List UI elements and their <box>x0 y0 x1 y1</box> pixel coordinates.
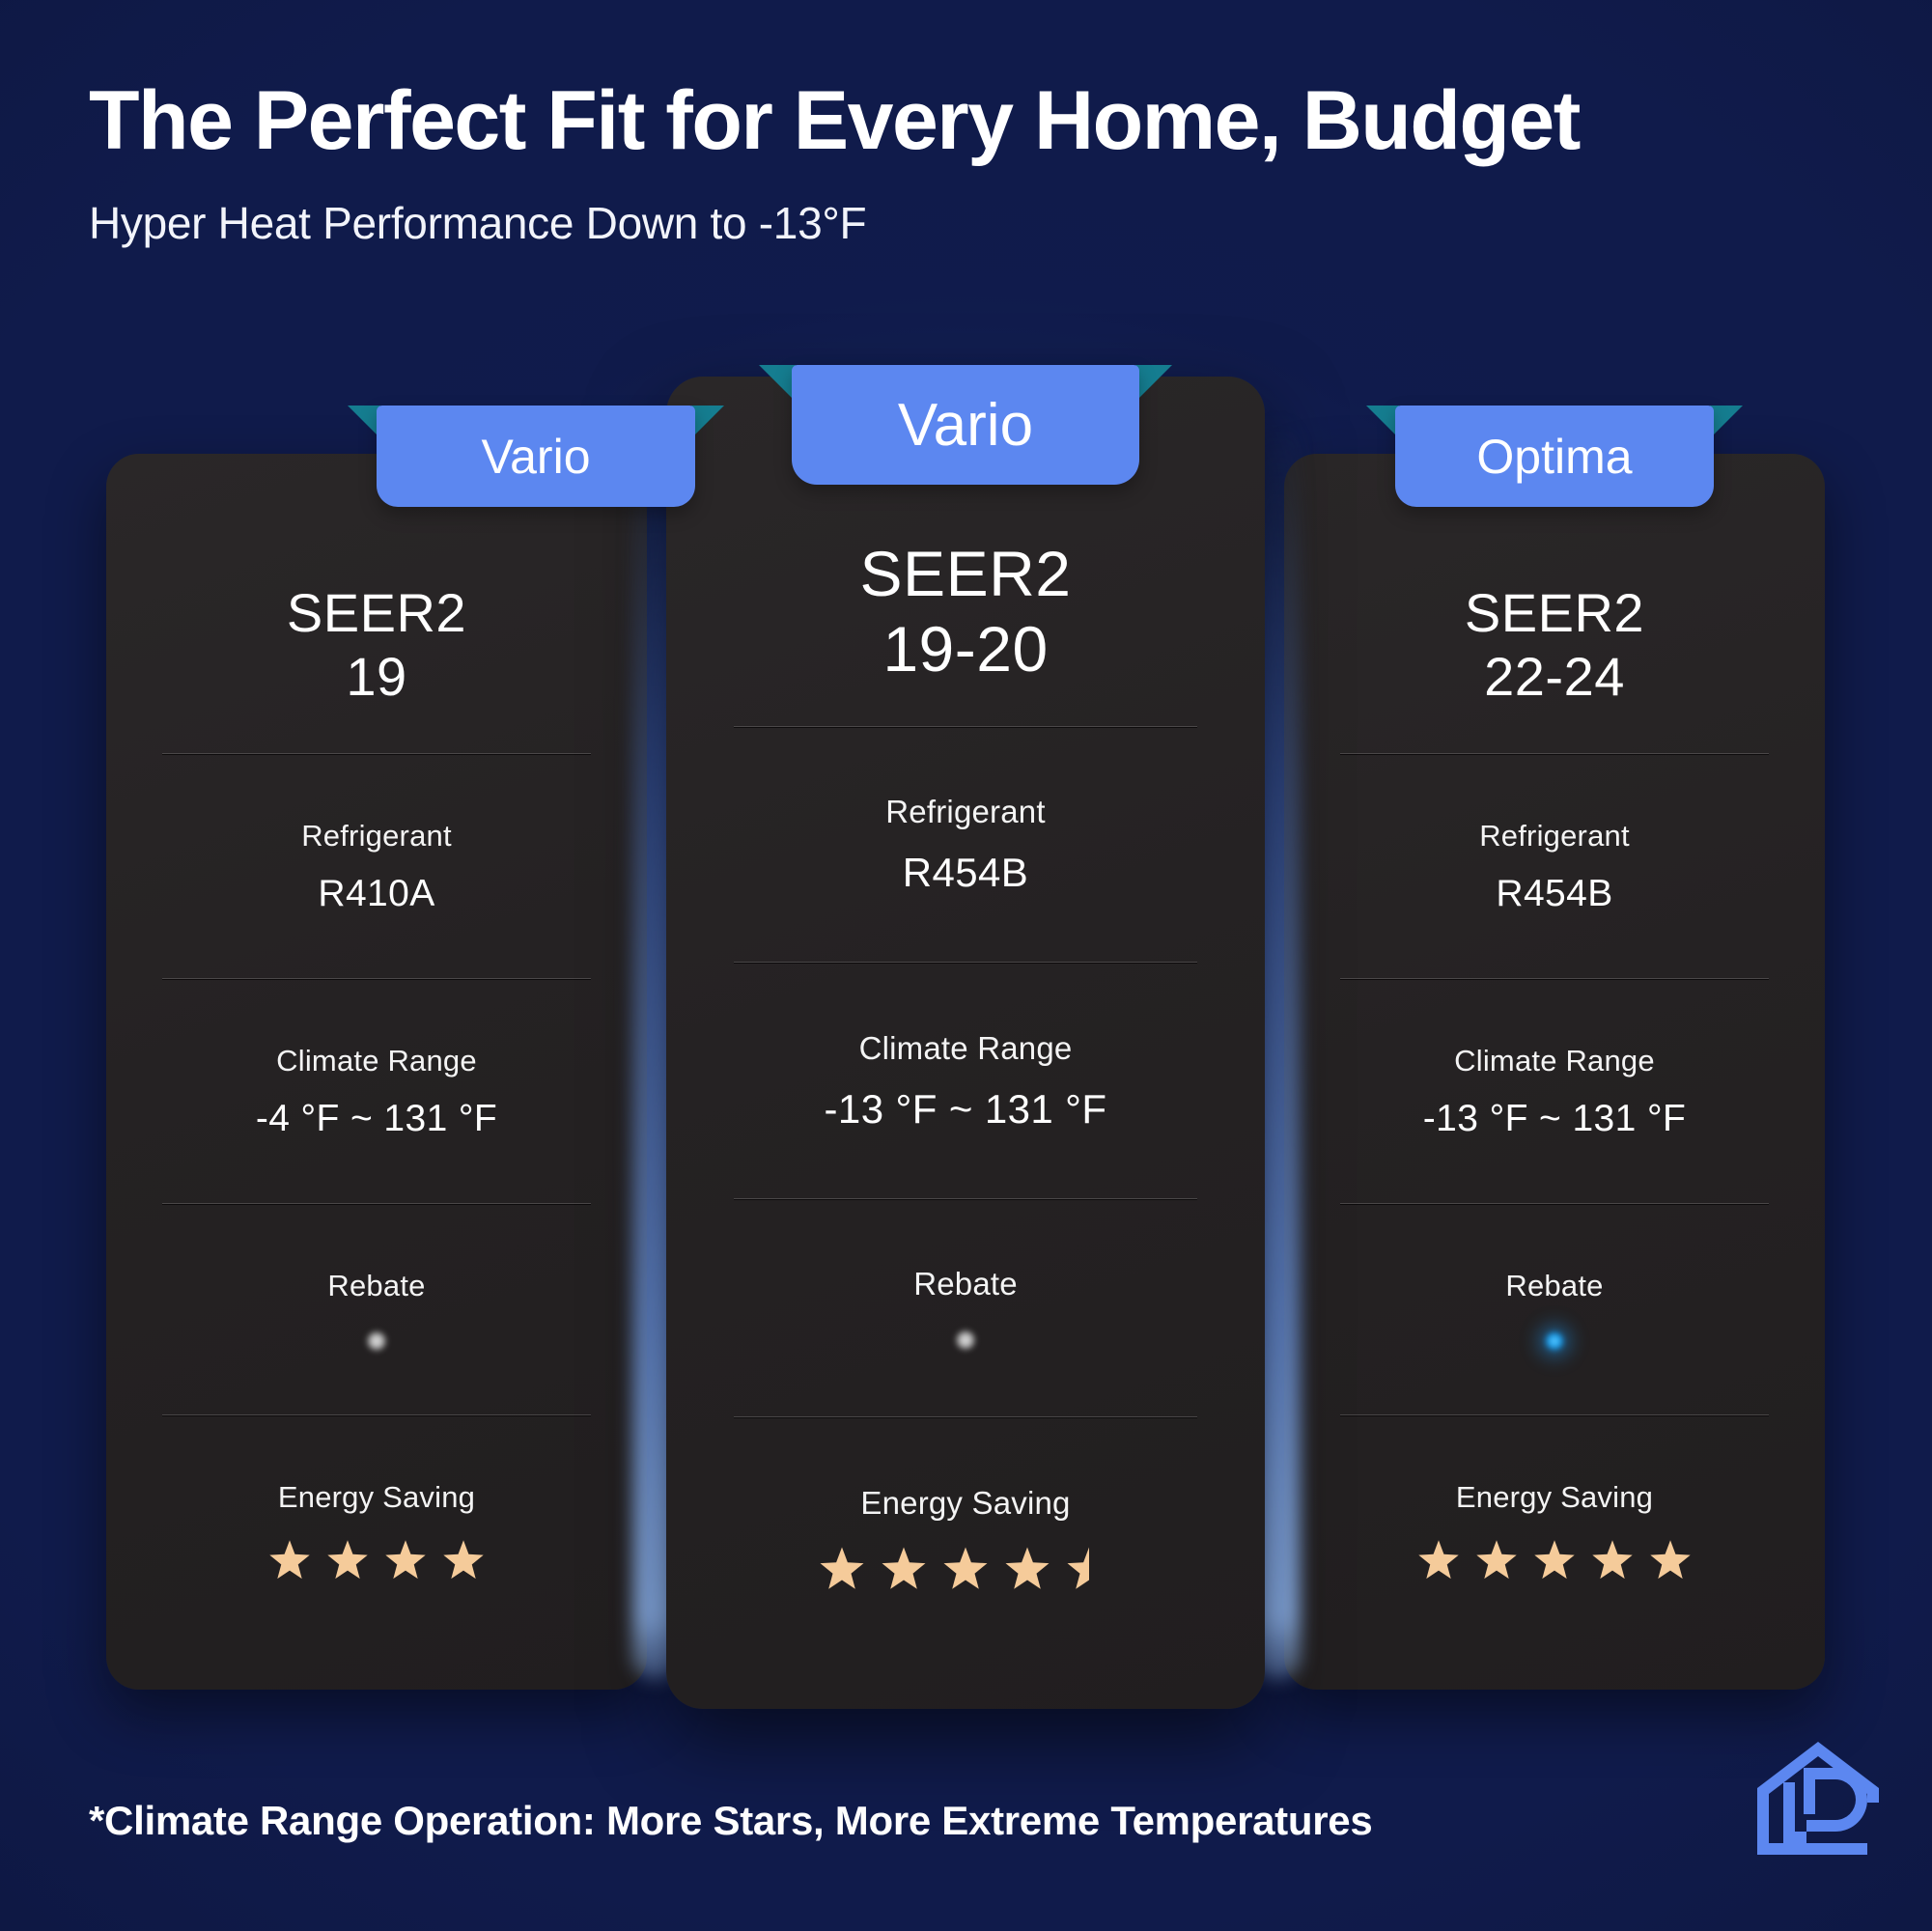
spec-label: Energy Saving <box>860 1485 1070 1522</box>
seer-value: 19 <box>346 645 406 709</box>
spec-row-rebate: Rebate <box>162 1205 591 1414</box>
spec-label: Refrigerant <box>301 819 452 854</box>
spec-value: R454B <box>1496 873 1612 915</box>
spec-row-rebate: Rebate <box>734 1200 1197 1417</box>
ribbon-label: Vario <box>898 391 1033 460</box>
comparison-cards: SEER2 19 Refrigerant R410A Climate Range… <box>0 0 1932 1931</box>
spec-label: Rebate <box>913 1266 1018 1302</box>
rebate-indicator-dot-icon <box>955 1329 976 1351</box>
spec-row-refrigerant: Refrigerant R454B <box>1340 755 1769 978</box>
spec-row-energy-saving: Energy Saving <box>734 1418 1197 1659</box>
star-icon <box>325 1538 370 1582</box>
ribbon-fold-right-icon <box>1710 406 1743 438</box>
ribbon-body[interactable]: Optima <box>1395 406 1714 507</box>
star-icon <box>1003 1545 1051 1593</box>
star-icon <box>1590 1538 1635 1582</box>
star-icon <box>1416 1538 1461 1582</box>
spec-value: R454B <box>903 850 1028 896</box>
spec-label: Rebate <box>327 1269 425 1303</box>
star-icon <box>441 1538 486 1582</box>
spec-row-climate-range: Climate Range -13 °F ~ 131 °F <box>1340 980 1769 1203</box>
seer-label: SEER2 <box>287 581 466 645</box>
card-content: SEER2 19 Refrigerant R410A Climate Range… <box>106 454 647 1690</box>
spec-label: Climate Range <box>1454 1044 1655 1078</box>
ribbon-fold-left-icon <box>1366 406 1399 438</box>
ribbon-label: Optima <box>1476 429 1632 485</box>
seer-value: 19-20 <box>882 612 1048 687</box>
star-icon <box>1474 1538 1519 1582</box>
ribbon-body[interactable]: Vario <box>377 406 695 507</box>
spec-row-climate-range: Climate Range -13 °F ~ 131 °F <box>734 964 1197 1198</box>
spec-value: -4 °F ~ 131 °F <box>256 1098 497 1140</box>
spec-row-energy-saving: Energy Saving <box>1340 1416 1769 1645</box>
ribbon-tab-right[interactable]: Optima <box>1395 406 1714 507</box>
spec-row-climate-range: Climate Range -4 °F ~ 131 °F <box>162 980 591 1203</box>
ribbon-body[interactable]: Vario <box>792 365 1139 485</box>
ribbon-tab-center[interactable]: Vario <box>792 365 1139 485</box>
spec-label: Refrigerant <box>885 794 1045 830</box>
plan-card-optima-22-24[interactable]: SEER2 22-24 Refrigerant R454B Climate Ra… <box>1284 454 1825 1690</box>
house-spiral-logo-icon <box>1746 1730 1890 1875</box>
spec-row-energy-saving: Energy Saving <box>162 1416 591 1645</box>
spec-label: Energy Saving <box>1456 1480 1653 1515</box>
seer-label: SEER2 <box>860 537 1072 612</box>
star-rating <box>818 1545 1113 1593</box>
spec-label: Energy Saving <box>278 1480 475 1515</box>
ribbon-tab-left[interactable]: Vario <box>377 406 695 507</box>
spec-label: Rebate <box>1505 1269 1603 1303</box>
spec-label: Climate Range <box>859 1030 1073 1067</box>
star-rating <box>1416 1538 1693 1582</box>
spec-row-refrigerant: Refrigerant R454B <box>734 728 1197 963</box>
spec-value: R410A <box>318 873 434 915</box>
seer-value: 22-24 <box>1484 645 1625 709</box>
star-icon <box>941 1545 990 1593</box>
spec-value: -13 °F ~ 131 °F <box>1423 1098 1686 1140</box>
footnote-text: *Climate Range Operation: More Stars, Mo… <box>89 1798 1372 1844</box>
card-content: SEER2 19-20 Refrigerant R454B Climate Ra… <box>666 377 1265 1709</box>
star-rating <box>267 1538 486 1582</box>
rebate-indicator-dot-icon <box>1544 1330 1565 1352</box>
star-icon <box>1532 1538 1577 1582</box>
spec-value: -13 °F ~ 131 °F <box>825 1086 1107 1133</box>
star-icon <box>267 1538 312 1582</box>
spec-row-refrigerant: Refrigerant R410A <box>162 755 591 978</box>
star-icon <box>383 1538 428 1582</box>
ribbon-fold-left-icon <box>348 406 380 438</box>
half-star-icon <box>1065 1545 1113 1593</box>
card-content: SEER2 22-24 Refrigerant R454B Climate Ra… <box>1284 454 1825 1690</box>
ribbon-label: Vario <box>481 429 590 485</box>
plan-card-vario-19[interactable]: SEER2 19 Refrigerant R410A Climate Range… <box>106 454 647 1690</box>
star-icon <box>818 1545 866 1593</box>
star-icon <box>1648 1538 1693 1582</box>
spec-row-rebate: Rebate <box>1340 1205 1769 1414</box>
rebate-indicator-dot-icon <box>366 1330 387 1352</box>
spec-label: Climate Range <box>276 1044 477 1078</box>
spec-label: Refrigerant <box>1479 819 1630 854</box>
star-icon <box>880 1545 928 1593</box>
plan-card-vario-19-20[interactable]: SEER2 19-20 Refrigerant R454B Climate Ra… <box>666 377 1265 1709</box>
seer-label: SEER2 <box>1465 581 1644 645</box>
